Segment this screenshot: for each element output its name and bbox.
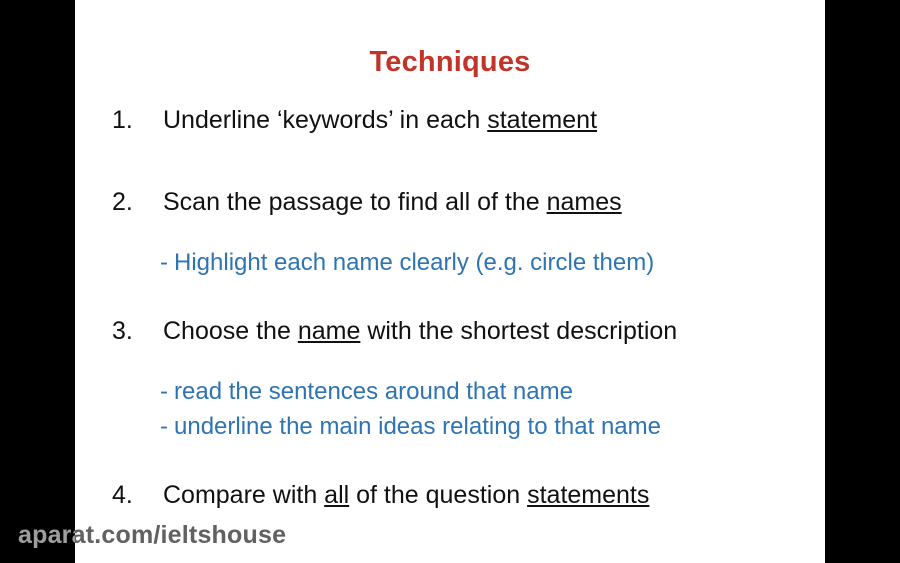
letterbox-bar-left xyxy=(0,0,75,563)
list-item-2: 2. Scan the passage to find all of the n… xyxy=(75,190,825,215)
list-item-text: Choose the name with the shortest descri… xyxy=(163,317,677,345)
sub-bullet-2-1: -Highlight each name clearly (e.g. circl… xyxy=(75,251,825,275)
underlined-keyword: statement xyxy=(487,106,597,134)
underlined-keyword: all xyxy=(324,481,349,509)
spacer xyxy=(75,439,825,483)
list-item-text: Compare with all of the question stateme… xyxy=(163,481,649,509)
letterbox-bar-right xyxy=(825,0,900,563)
list-item-text: Scan the passage to find all of the name… xyxy=(163,188,622,216)
sub-bullet-dash: - xyxy=(160,249,168,276)
sub-bullet-dash: - xyxy=(160,413,168,440)
underlined-keyword-2: statements xyxy=(527,481,649,509)
spacer xyxy=(75,133,825,190)
text-segment-tail: with the shortest description xyxy=(360,317,677,345)
sub-bullet-3-1: -read the sentences around that name xyxy=(75,380,825,404)
list-item-number: 1. xyxy=(112,108,133,133)
list-item-4: 4. Compare with all of the question stat… xyxy=(75,483,825,508)
list-item-text: Underline ‘keywords’ in each statement xyxy=(163,106,597,134)
techniques-list: 1. Underline ‘keywords’ in each statemen… xyxy=(75,108,825,508)
list-item-1: 1. Underline ‘keywords’ in each statemen… xyxy=(75,108,825,133)
video-player-viewport: Techniques 1. Underline ‘keywords’ in ea… xyxy=(0,0,900,563)
text-segment: Scan the passage to find all of the xyxy=(163,188,547,216)
text-segment: Choose the xyxy=(163,317,298,345)
spacer xyxy=(75,215,825,251)
text-segment: Compare with xyxy=(163,481,324,509)
list-item-number: 3. xyxy=(112,319,133,344)
sub-bullet-dash: - xyxy=(160,378,168,405)
list-item-number: 2. xyxy=(112,190,133,215)
sub-bullet-text: Highlight each name clearly (e.g. circle… xyxy=(174,249,654,276)
spacer xyxy=(75,344,825,380)
slide-title: Techniques xyxy=(75,46,825,79)
sub-bullet-text: underline the main ideas relating to tha… xyxy=(174,413,661,440)
underlined-keyword: names xyxy=(547,188,622,216)
presentation-slide: Techniques 1. Underline ‘keywords’ in ea… xyxy=(75,0,825,563)
list-item-number: 4. xyxy=(112,483,133,508)
text-segment: Underline ‘keywords’ in each xyxy=(163,106,487,134)
underlined-keyword: name xyxy=(298,317,361,345)
sub-bullet-text: read the sentences around that name xyxy=(174,378,573,405)
sub-bullet-3-2: -underline the main ideas relating to th… xyxy=(75,415,825,439)
text-segment-middle: of the question xyxy=(349,481,527,509)
spacer xyxy=(75,275,825,319)
list-item-3: 3. Choose the name with the shortest des… xyxy=(75,319,825,344)
